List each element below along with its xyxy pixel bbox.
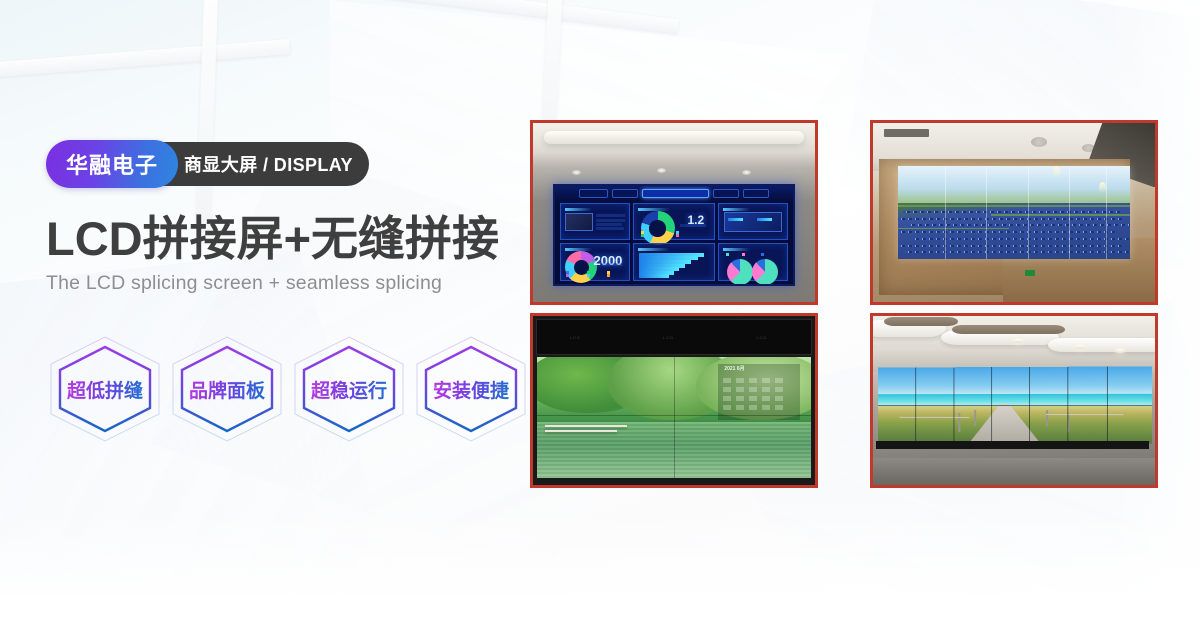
videowall-base	[876, 441, 1150, 449]
feature-badge[interactable]: 超稳运行	[290, 333, 408, 445]
photo-content: 1.2 2000	[533, 123, 815, 302]
screen-sea	[878, 394, 1151, 406]
page-title: LCD拼接屏+无缝拼接	[46, 214, 516, 263]
dashboard-tab	[612, 189, 638, 198]
ceiling-light-icon	[1116, 349, 1124, 353]
wall-light-icon	[1053, 166, 1060, 177]
dashboard-panel-intro	[560, 203, 631, 241]
legend-dot	[761, 253, 764, 256]
page-subtitle: The LCD splicing screen + seamless splic…	[46, 272, 516, 295]
photo-content	[873, 316, 1155, 485]
donut-chart	[641, 211, 675, 245]
gallery-photo-solar-videowall[interactable]	[870, 120, 1158, 305]
dashboard-topbar	[555, 186, 794, 201]
ceiling-vent	[884, 129, 929, 137]
ceiling-light-icon	[742, 170, 751, 175]
gallery-photo-dashboard-videowall[interactable]: 1.2 2000	[530, 120, 818, 305]
dashboard-panel-area-ratio: 2000	[560, 243, 631, 281]
pond-railing	[545, 430, 616, 432]
bg-fade-bottom	[0, 510, 1200, 640]
legend-dot	[726, 253, 729, 256]
gallery-photo-beach-videowall[interactable]	[870, 313, 1158, 488]
panel-text-line	[596, 219, 625, 222]
screen-sky	[898, 166, 1129, 203]
ceiling-light-icon	[1014, 339, 1023, 343]
videowall-screen: 2021 6月	[537, 357, 811, 479]
ceiling-light-icon	[657, 168, 666, 173]
feature-badge[interactable]: 超低拼缝	[46, 333, 164, 445]
brand-pill-label: 华融电子	[66, 148, 158, 180]
metric-label	[602, 263, 623, 266]
flow-link	[728, 218, 743, 221]
bezel-brand-label: LCD	[756, 335, 767, 340]
feature-badge-row: 超低拼缝 品牌面板 超稳运行 安装便捷	[46, 333, 530, 445]
legend-dot	[566, 274, 569, 277]
ceiling-band	[952, 325, 1065, 334]
calendar-title: 2021 6月	[724, 365, 744, 372]
ceiling-light-icon	[1076, 345, 1084, 349]
bezel-brand-label: LCD	[663, 335, 674, 340]
bezel-brand-label: LCD	[570, 335, 581, 340]
feature-badge-label: 安装便捷	[433, 376, 509, 403]
gallery-photo-willow-pond-videowall[interactable]: LCD LCD LCD 2021 6月	[530, 313, 818, 488]
ceiling	[873, 316, 1155, 372]
legend-dot	[607, 274, 610, 277]
panel-text-line	[596, 214, 625, 217]
dashboard-tab-active	[642, 189, 709, 198]
feature-badge[interactable]: 安装便捷	[412, 333, 530, 445]
banner-text-column: 商显大屏 / DISPLAY 华融电子 LCD拼接屏+无缝拼接 The LCD …	[46, 140, 516, 295]
dashboard-panel-pie-charts	[718, 243, 789, 281]
dashboard-grid: 1.2 2000	[560, 203, 789, 281]
legend-dot	[566, 271, 569, 274]
category-pill-label: 商显大屏 / DISPLAY	[184, 151, 353, 177]
pie-chart	[752, 259, 778, 285]
bar	[639, 274, 669, 278]
pond-railing	[545, 425, 627, 427]
feature-badge[interactable]: 品牌面板	[168, 333, 286, 445]
dashboard-tab	[579, 189, 608, 198]
feature-badge-label: 品牌面板	[189, 376, 265, 403]
screen-sky	[878, 366, 1151, 394]
ceiling-panel	[1048, 338, 1155, 351]
dashboard-panel-flow-diagram	[718, 203, 789, 241]
videowall-screen	[878, 366, 1151, 443]
photo-content	[873, 123, 1155, 302]
flow-diagram	[724, 212, 782, 232]
legend-dot	[607, 271, 610, 274]
brand-pill: 华融电子	[46, 140, 178, 188]
ceiling-light-icon	[572, 170, 581, 175]
legend-dot	[742, 253, 745, 256]
panel-text-line	[596, 223, 622, 226]
flow-link	[757, 218, 772, 221]
dashboard-tab	[743, 189, 769, 198]
legend-dot	[587, 274, 590, 277]
dashboard-panel-industry-stats: 1.2	[633, 203, 714, 241]
panel-text-line	[596, 227, 624, 230]
screen-solar-farm	[898, 203, 1129, 259]
pie-chart	[727, 259, 753, 285]
ceiling	[533, 123, 815, 169]
lobby-floor	[873, 458, 1155, 485]
feature-badge-label: 超低拼缝	[67, 376, 143, 403]
dashboard-tab	[713, 189, 739, 198]
dashboard-panel-bar-chart	[633, 243, 714, 281]
exit-sign-icon	[1025, 270, 1035, 276]
panel-thumbnail	[565, 213, 593, 231]
wall-light-icon	[1099, 182, 1106, 193]
videowall-screen	[898, 166, 1129, 259]
ceiling-light-icon	[1031, 137, 1047, 147]
legend-dot	[641, 234, 644, 237]
legend-dot	[676, 234, 679, 237]
photo-content: LCD LCD LCD 2021 6月	[533, 316, 815, 485]
calendar-overlay: 2021 6月	[718, 364, 800, 420]
videowall-screen: 1.2 2000	[553, 184, 796, 286]
bg-beam	[0, 39, 290, 80]
brand-pill-group: 商显大屏 / DISPLAY 华融电子	[46, 140, 386, 188]
feature-badge-label: 超稳运行	[311, 376, 387, 403]
metric-label	[680, 224, 705, 227]
legend-dot	[587, 271, 590, 274]
screen-top-row-off: LCD LCD LCD	[536, 319, 812, 354]
ceiling-band	[884, 317, 957, 326]
